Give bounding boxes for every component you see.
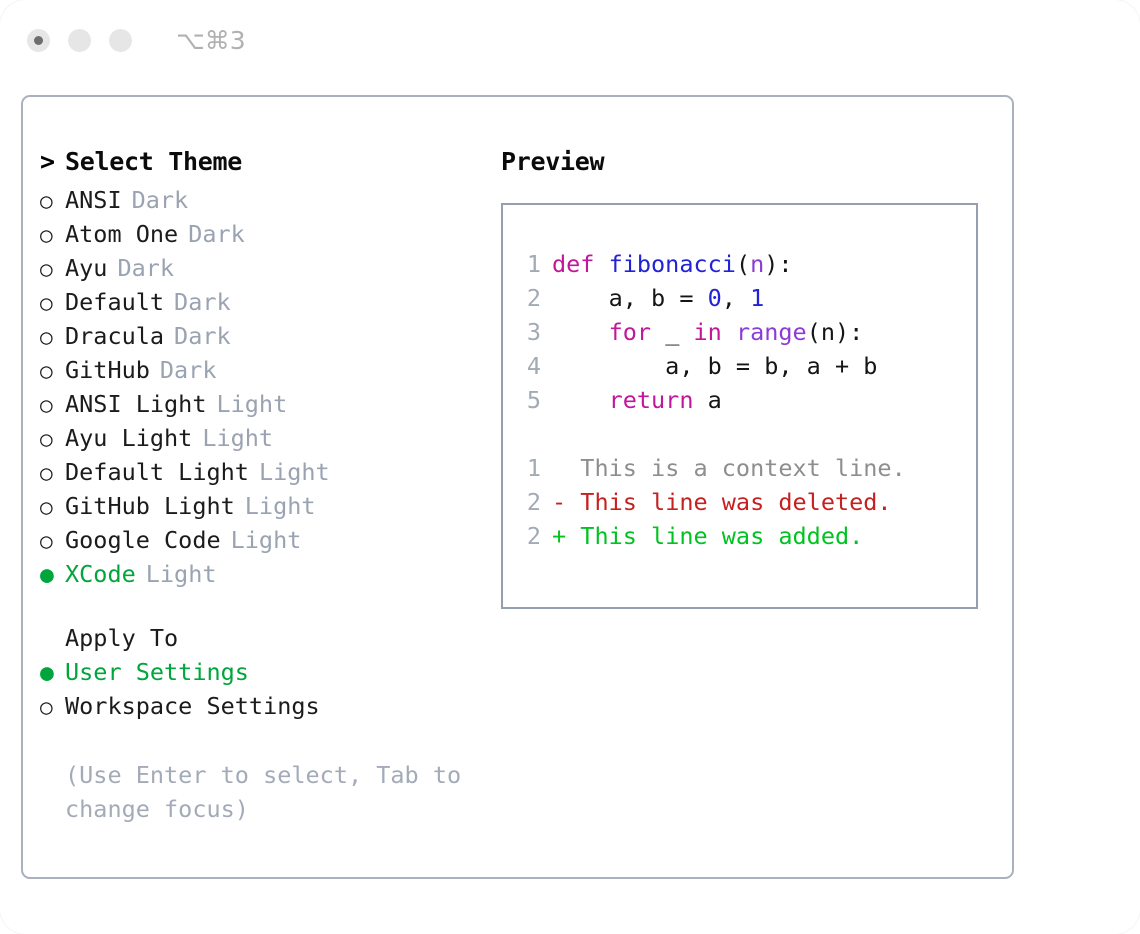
theme-name: Dracula <box>65 319 164 353</box>
code-line-text: def fibonacci(n): <box>552 247 793 281</box>
maximize-button[interactable] <box>109 29 132 52</box>
code-token-fn: fibonacci <box>609 250 736 278</box>
code-line-number: 3 <box>515 315 541 349</box>
radio-selected-icon: ● <box>40 558 65 592</box>
theme-list-item[interactable]: ○GitHub LightLight <box>40 489 493 523</box>
code-token-plain <box>552 318 609 346</box>
theme-list-item[interactable]: ○ANSIDark <box>40 183 493 217</box>
code-token-plain: , <box>722 284 750 312</box>
theme-kind-badge: Light <box>202 421 273 455</box>
code-line-text: return a <box>552 383 722 417</box>
theme-list-item[interactable]: ○Atom OneDark <box>40 217 493 251</box>
theme-list-item[interactable]: ○DraculaDark <box>40 319 493 353</box>
theme-list-item[interactable]: ○Google CodeLight <box>40 523 493 557</box>
radio-unselected-icon: ○ <box>40 422 65 456</box>
radio-unselected-icon: ○ <box>40 388 65 422</box>
diff-line-number: 2 <box>515 485 541 519</box>
code-sample-block: 1def fibonacci(n):2 a, b = 0, 13 for _ i… <box>503 247 976 417</box>
radio-unselected-icon: ○ <box>40 354 65 388</box>
theme-kind-badge: Dark <box>188 217 245 251</box>
radio-unselected-icon: ○ <box>40 184 65 218</box>
code-line-text: a, b = b, a + b <box>552 349 877 383</box>
code-line: 3 for _ in range(n): <box>503 315 976 349</box>
theme-kind-badge: Light <box>259 455 330 489</box>
preview-title: Preview <box>501 143 1012 181</box>
theme-kind-badge: Dark <box>132 183 189 217</box>
theme-list-item[interactable]: ○Ayu LightLight <box>40 421 493 455</box>
code-line: 2 a, b = 0, 1 <box>503 281 976 315</box>
code-line-number: 5 <box>515 383 541 417</box>
code-token-plain: a <box>693 386 721 414</box>
apply-to-header: ○ Apply To <box>40 621 493 655</box>
keyboard-hint-text: (Use Enter to select, Tab to change focu… <box>65 758 465 826</box>
page-title: Select Theme <box>65 143 242 181</box>
diff-sign <box>552 451 566 485</box>
theme-list-item[interactable]: ○GitHubDark <box>40 353 493 387</box>
apply-to-spacer-icon: ○ <box>40 622 65 656</box>
apply-to-section: ○ Apply To ●User Settings○Workspace Sett… <box>40 621 493 723</box>
apply-to-option[interactable]: ●User Settings <box>40 655 493 689</box>
code-token-num: 1 <box>750 284 764 312</box>
theme-list-item[interactable]: ○Default LightLight <box>40 455 493 489</box>
prompt-caret-icon: > <box>40 143 65 181</box>
code-token-punct: ( <box>736 250 750 278</box>
select-theme-header: > Select Theme <box>40 143 493 181</box>
code-token-kw: in <box>694 318 722 346</box>
preview-box: 1def fibonacci(n):2 a, b = 0, 13 for _ i… <box>501 203 978 609</box>
diff-sample-block: 1 This is a context line.2- This line wa… <box>503 451 976 553</box>
code-line: 4 a, b = b, a + b <box>503 349 976 383</box>
radio-selected-icon: ● <box>40 656 65 690</box>
code-token-plain <box>552 386 609 414</box>
theme-name: GitHub <box>65 353 150 387</box>
theme-name: XCode <box>65 557 136 591</box>
apply-to-option-label: Workspace Settings <box>65 689 320 723</box>
theme-name: Default <box>65 285 164 319</box>
code-token-punct: ): <box>764 250 792 278</box>
window-titlebar: ⌥⌘3 <box>0 0 1140 80</box>
code-token-plain <box>722 318 736 346</box>
theme-name: Google Code <box>65 523 221 557</box>
code-line: 5 return a <box>503 383 976 417</box>
diff-line-text: This is a context line. <box>566 451 906 485</box>
code-line: 1def fibonacci(n): <box>503 247 976 281</box>
theme-list: ○ANSIDark○Atom OneDark○AyuDark○DefaultDa… <box>40 183 493 591</box>
theme-kind-badge: Dark <box>174 319 231 353</box>
theme-name: Default Light <box>65 455 249 489</box>
diff-line: 2- This line was deleted. <box>503 485 976 519</box>
theme-kind-badge: Light <box>146 557 217 591</box>
radio-unselected-icon: ○ <box>40 456 65 490</box>
theme-kind-badge: Dark <box>174 285 231 319</box>
code-line-number: 4 <box>515 349 541 383</box>
diff-line: 1 This is a context line. <box>503 451 976 485</box>
theme-name: Atom One <box>65 217 178 251</box>
diff-line: 2+ This line was added. <box>503 519 976 553</box>
theme-kind-badge: Dark <box>117 251 174 285</box>
code-token-num: 0 <box>708 284 722 312</box>
code-line-text: a, b = 0, 1 <box>552 281 764 315</box>
theme-list-item[interactable]: ●XCodeLight <box>40 557 493 591</box>
code-line-number: 2 <box>515 281 541 315</box>
theme-kind-badge: Light <box>216 387 287 421</box>
code-line-text: for _ in range(n): <box>552 315 863 349</box>
code-token-plain: _ <box>651 318 693 346</box>
code-token-id: range <box>736 318 807 346</box>
theme-selection-column: > Select Theme ○ANSIDark○Atom OneDark○Ay… <box>23 97 493 877</box>
minimize-button[interactable] <box>68 29 91 52</box>
preview-column: Preview 1def fibonacci(n):2 a, b = 0, 13… <box>493 97 1012 877</box>
code-token-kw: return <box>609 386 694 414</box>
code-token-kw: def <box>552 250 609 278</box>
diff-line-number: 1 <box>515 451 541 485</box>
theme-name: GitHub Light <box>65 489 235 523</box>
apply-to-option-label: User Settings <box>65 655 249 689</box>
theme-list-item[interactable]: ○AyuDark <box>40 251 493 285</box>
diff-line-text: This line was added. <box>566 519 863 553</box>
record-dot-icon <box>34 36 43 45</box>
code-token-punct: (n): <box>807 318 864 346</box>
code-diff-separator <box>503 417 976 451</box>
radio-unselected-icon: ○ <box>40 490 65 524</box>
radio-unselected-icon: ○ <box>40 320 65 354</box>
theme-name: Ayu <box>65 251 107 285</box>
code-token-plain: a, b = <box>552 284 708 312</box>
theme-list-item[interactable]: ○DefaultDark <box>40 285 493 319</box>
apply-to-label: Apply To <box>65 621 178 655</box>
record-button[interactable] <box>27 29 50 52</box>
radio-unselected-icon: ○ <box>40 252 65 286</box>
diff-line-text: This line was deleted. <box>566 485 891 519</box>
apply-to-option-list: ●User Settings○Workspace Settings <box>40 655 493 723</box>
radio-unselected-icon: ○ <box>40 218 65 252</box>
diff-line-number: 2 <box>515 519 541 553</box>
main-panel: > Select Theme ○ANSIDark○Atom OneDark○Ay… <box>21 95 1014 879</box>
radio-unselected-icon: ○ <box>40 524 65 558</box>
apply-to-option[interactable]: ○Workspace Settings <box>40 689 493 723</box>
theme-name: Ayu Light <box>65 421 192 455</box>
theme-name: ANSI <box>65 183 122 217</box>
diff-sign: + <box>552 519 566 553</box>
code-token-id: n <box>750 250 764 278</box>
app-window: ⌥⌘3 > Select Theme ○ANSIDark○Atom OneDar… <box>0 0 1140 934</box>
theme-name: ANSI Light <box>65 387 206 421</box>
traffic-light-group <box>27 29 132 52</box>
theme-kind-badge: Light <box>245 489 316 523</box>
radio-unselected-icon: ○ <box>40 286 65 320</box>
code-line-number: 1 <box>515 247 541 281</box>
diff-sign: - <box>552 485 566 519</box>
code-token-plain: a, b = b, a + b <box>552 352 877 380</box>
theme-list-item[interactable]: ○ANSI LightLight <box>40 387 493 421</box>
code-token-kw: for <box>609 318 651 346</box>
theme-kind-badge: Light <box>231 523 302 557</box>
radio-unselected-icon: ○ <box>40 690 65 724</box>
theme-kind-badge: Dark <box>160 353 217 387</box>
keyboard-shortcut-label: ⌥⌘3 <box>176 26 246 55</box>
